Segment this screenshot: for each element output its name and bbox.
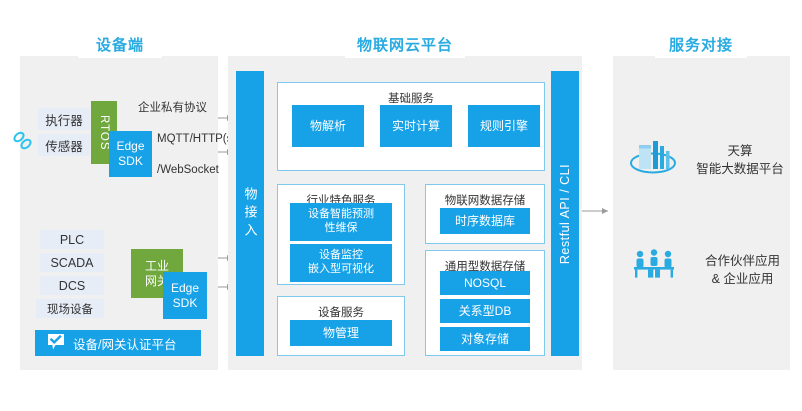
service-panel-title-text: 服务对接 [669, 34, 733, 55]
service-entry-partners-line1: 合作伙伴应用 [690, 252, 795, 270]
ingress-bar-label: 物接入 [244, 187, 257, 241]
edge-sdk-gateway-box[interactable]: Edge SDK [163, 272, 207, 319]
basic-service-item-parse[interactable]: 物解析 [292, 105, 364, 147]
actuator-label-text: 执行器 [45, 110, 83, 129]
partners-meeting-icon [632, 248, 676, 285]
protocol-private-label: 企业私有协议 [138, 99, 207, 115]
check-badge-icon [47, 333, 65, 354]
device-item-scada: SCADA [40, 253, 104, 272]
device-item-plc: PLC [40, 230, 104, 249]
service-entry-bigdata-line1: 天算 [690, 142, 790, 160]
device-item-field-device: 现场设备 [36, 299, 104, 318]
ingress-bar[interactable]: 物接入 [236, 71, 264, 356]
basic-service-item-rule-engine[interactable]: 规则引擎 [468, 105, 540, 147]
service-entry-partners-text: 合作伙伴应用 & 企业应用 [690, 252, 795, 288]
device-panel-title-text: 设备端 [96, 34, 144, 55]
industry-service-item-device-monitor[interactable]: 设备监控 嵌入型可视化 [290, 244, 392, 282]
device-item-dcs: DCS [40, 276, 104, 295]
edge-sdk-device-line1: Edge [116, 139, 144, 154]
iot-storage-title: 物联网数据存储 [426, 192, 544, 208]
basic-service-title: 基础服务 [278, 90, 544, 106]
cloud-panel-title-text: 物联网云平台 [357, 34, 453, 55]
protocol-mqtt-label-line2: /WebSocket [157, 164, 219, 176]
service-entry-partners-line2: & 企业应用 [690, 270, 795, 288]
service-entry-bigdata-text: 天算 智能大数据平台 [690, 142, 790, 178]
cloud-panel-title: 物联网云平台 [345, 30, 465, 58]
service-entry-bigdata-line2: 智能大数据平台 [690, 160, 790, 178]
auth-platform-label: 设备/网关认证平台 [73, 334, 176, 353]
sensor-label: 传感器 [38, 134, 90, 156]
general-storage-item-object-storage[interactable]: 对象存储 [440, 327, 530, 351]
basic-service-item-realtime-compute[interactable]: 实时计算 [380, 105, 452, 147]
device-panel-title: 设备端 [78, 30, 162, 58]
auth-platform-bar[interactable]: 设备/网关认证平台 [35, 330, 201, 356]
sensor-label-text: 传感器 [45, 136, 83, 155]
edge-sdk-gateway-line1: Edge [171, 281, 199, 296]
sensor-icon [10, 128, 36, 159]
bigdata-server-icon [629, 137, 677, 184]
service-panel [613, 56, 790, 370]
device-service-title: 设备服务 [278, 304, 404, 320]
industry-service-item-predictive-maintenance[interactable]: 设备智能预测 性维保 [290, 203, 392, 241]
edge-sdk-device-line2: SDK [118, 154, 143, 169]
general-storage-item-nosql[interactable]: NOSQL [440, 271, 530, 295]
device-service-item-thing-management[interactable]: 物管理 [290, 320, 392, 346]
restful-api-bar[interactable]: Restful API / CLI [551, 71, 579, 356]
iot-storage-item-tsdb[interactable]: 时序数据库 [440, 208, 530, 234]
edge-sdk-device-box[interactable]: Edge SDK [109, 131, 152, 177]
edge-sdk-gateway-line2: SDK [173, 296, 198, 311]
general-storage-item-rdb[interactable]: 关系型DB [440, 299, 530, 323]
actuator-label: 执行器 [38, 108, 90, 130]
protocol-mqtt-label-line1: MQTT/HTTP(s) [157, 133, 236, 145]
restful-api-bar-label: Restful API / CLI [558, 163, 572, 263]
service-panel-title: 服务对接 [655, 30, 747, 58]
